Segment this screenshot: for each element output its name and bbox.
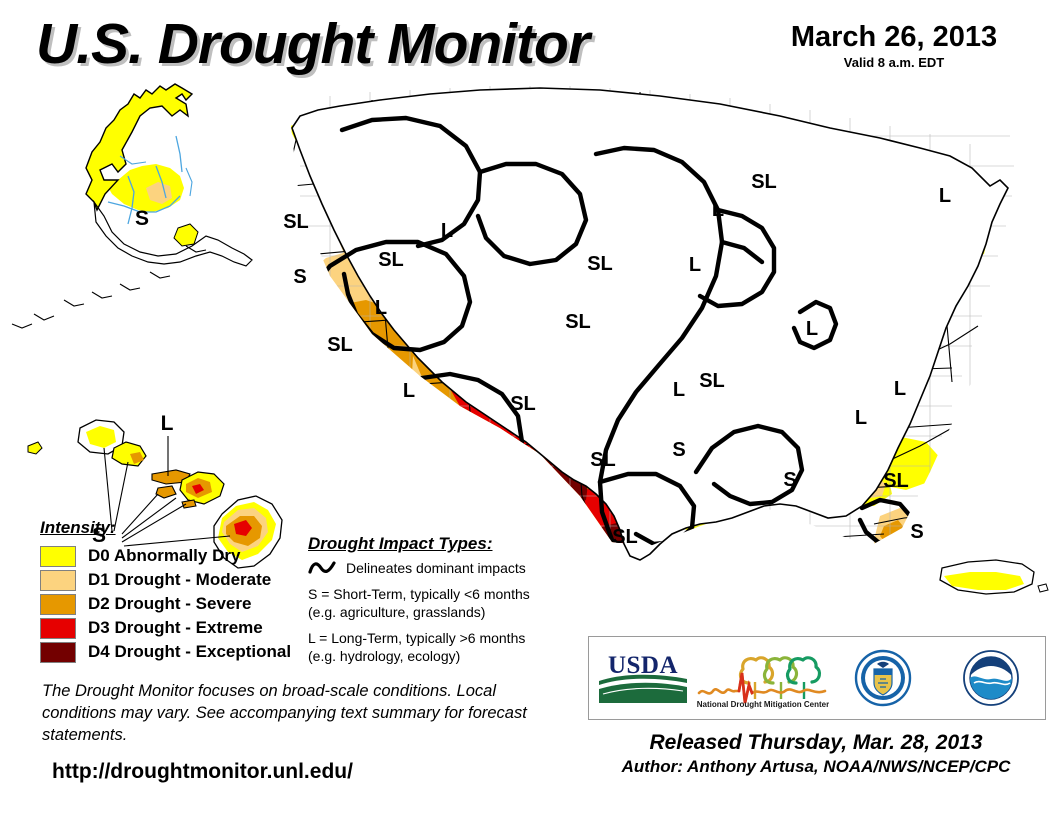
svg-text:L: L bbox=[855, 407, 867, 429]
svg-text:SL: SL bbox=[378, 249, 404, 271]
release-date: Released Thursday, Mar. 28, 2013 bbox=[584, 731, 1048, 755]
svg-text:L: L bbox=[403, 380, 415, 402]
svg-text:S: S bbox=[783, 469, 796, 491]
legend-row-d2: D2 Drought - Severe bbox=[40, 592, 291, 616]
svg-text:L: L bbox=[939, 185, 951, 207]
intensity-legend: Intensity: D0 Abnormally Dry D1 Drought … bbox=[40, 518, 291, 664]
svg-text:L: L bbox=[441, 220, 453, 242]
legend-label-d4: D4 Drought - Exceptional bbox=[88, 642, 291, 662]
svg-text:SL: SL bbox=[883, 470, 909, 492]
short-term-definition: S = Short-Term, typically <6 months (e.g… bbox=[308, 586, 588, 621]
legend-label-d2: D2 Drought - Severe bbox=[88, 594, 251, 614]
svg-text:SL: SL bbox=[587, 253, 613, 275]
svg-text:SL: SL bbox=[510, 393, 536, 415]
svg-text:SL: SL bbox=[751, 171, 777, 193]
short-term-line-2: (e.g. agriculture, grasslands) bbox=[308, 604, 588, 622]
swatch-d3 bbox=[40, 618, 76, 639]
doc-seal bbox=[829, 637, 937, 719]
legend-label-d1: D1 Drought - Moderate bbox=[88, 570, 271, 590]
map-date-block: March 26, 2013 Valid 8 a.m. EDT bbox=[748, 22, 1040, 70]
puerto-rico-inset bbox=[940, 560, 1048, 594]
impact-label-hawaii-long: L bbox=[161, 412, 174, 435]
legend-row-d0: D0 Abnormally Dry bbox=[40, 544, 291, 568]
doc-seal-icon bbox=[854, 649, 912, 707]
author-credit: Author: Anthony Artusa, NOAA/NWS/NCEP/CP… bbox=[584, 757, 1048, 777]
release-info: Released Thursday, Mar. 28, 2013 Author:… bbox=[584, 731, 1048, 777]
svg-text:L: L bbox=[894, 378, 906, 400]
svg-text:S: S bbox=[293, 266, 306, 288]
legend-row-d1: D1 Drought - Moderate bbox=[40, 568, 291, 592]
legend-label-d0: D0 Abnormally Dry bbox=[88, 546, 240, 566]
swatch-d0 bbox=[40, 546, 76, 567]
conus-map: SL S SL L L SL L SL SL SL SL SL L L L SL bbox=[283, 86, 1048, 596]
svg-text:SL: SL bbox=[327, 334, 353, 356]
svg-text:L: L bbox=[712, 199, 724, 221]
svg-text:S: S bbox=[910, 521, 923, 543]
website-url[interactable]: http://droughtmonitor.unl.edu/ bbox=[52, 760, 353, 784]
impact-label-alaska: S bbox=[135, 207, 149, 230]
drought-monitor-poster: U.S. Drought Monitor March 26, 2013 Vali… bbox=[0, 0, 1056, 816]
svg-text:SL: SL bbox=[590, 449, 616, 471]
usda-logo-icon: USDA bbox=[595, 649, 691, 707]
ndmc-logo: National Drought Mitigation Center bbox=[697, 637, 829, 719]
svg-text:National Drought Mitigation Ce: National Drought Mitigation Center bbox=[697, 700, 829, 709]
svg-text:noaa: noaa bbox=[982, 668, 1001, 677]
delineates-row: Delineates dominant impacts bbox=[308, 560, 588, 576]
svg-text:SL: SL bbox=[565, 311, 591, 333]
svg-text:SL: SL bbox=[612, 526, 638, 548]
svg-text:L: L bbox=[806, 318, 818, 340]
intensity-legend-heading: Intensity: bbox=[40, 518, 291, 538]
impact-types-legend: Drought Impact Types: Delineates dominan… bbox=[308, 534, 588, 674]
noaa-seal-icon: noaa bbox=[962, 649, 1020, 707]
short-term-line-1: S = Short-Term, typically <6 months bbox=[308, 586, 588, 604]
swatch-d1 bbox=[40, 570, 76, 591]
map-date: March 26, 2013 bbox=[748, 22, 1040, 52]
squiggle-icon bbox=[308, 560, 336, 576]
legend-row-d4: D4 Drought - Exceptional bbox=[40, 640, 291, 664]
noaa-seal: noaa bbox=[937, 637, 1045, 719]
svg-text:S: S bbox=[672, 439, 685, 461]
impact-legend-heading: Drought Impact Types: bbox=[308, 534, 588, 554]
map-valid-time: Valid 8 a.m. EDT bbox=[748, 55, 1040, 70]
disclaimer-text: The Drought Monitor focuses on broad-sca… bbox=[42, 681, 572, 747]
long-term-definition: L = Long-Term, typically >6 months (e.g.… bbox=[308, 630, 588, 665]
alaska-inset: S bbox=[12, 84, 252, 328]
legend-row-d3: D3 Drought - Extreme bbox=[40, 616, 291, 640]
agency-logo-strip: USDA bbox=[588, 636, 1046, 720]
long-term-line-2: (e.g. hydrology, ecology) bbox=[308, 648, 588, 666]
svg-text:L: L bbox=[673, 379, 685, 401]
svg-text:L: L bbox=[689, 254, 701, 276]
swatch-d2 bbox=[40, 594, 76, 615]
svg-text:SL: SL bbox=[699, 370, 725, 392]
usda-logo: USDA bbox=[589, 637, 697, 719]
page-title: U.S. Drought Monitor bbox=[36, 16, 589, 73]
delineates-label: Delineates dominant impacts bbox=[346, 560, 526, 576]
swatch-d4 bbox=[40, 642, 76, 663]
ndmc-logo-icon: National Drought Mitigation Center bbox=[697, 647, 829, 709]
legend-label-d3: D3 Drought - Extreme bbox=[88, 618, 263, 638]
long-term-line-1: L = Long-Term, typically >6 months bbox=[308, 630, 588, 648]
svg-text:L: L bbox=[375, 297, 387, 319]
svg-text:SL: SL bbox=[283, 211, 309, 233]
